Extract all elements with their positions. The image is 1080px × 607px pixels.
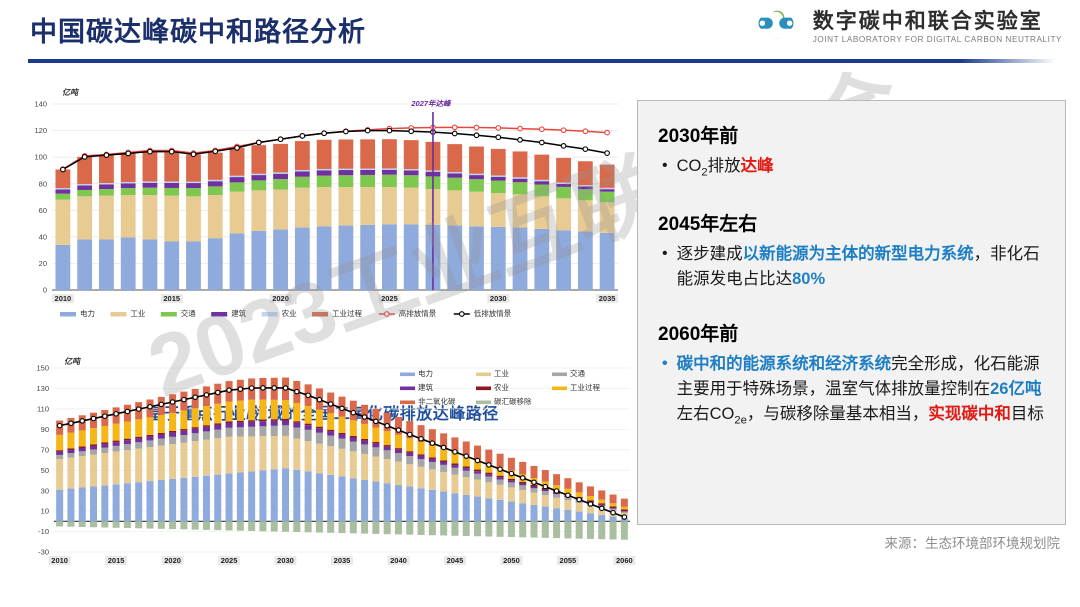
svg-text:2030: 2030 <box>277 556 294 565</box>
svg-text:0: 0 <box>43 286 47 295</box>
milestone-2030: 2030年前 • CO2排放达峰 <box>656 121 1051 181</box>
svg-text:2010: 2010 <box>51 556 68 565</box>
bullet-dot-icon: • <box>662 154 668 181</box>
svg-text:2020: 2020 <box>272 294 289 303</box>
svg-text:10: 10 <box>41 507 49 516</box>
svg-text:交通: 交通 <box>181 308 196 318</box>
svg-text:40: 40 <box>39 232 47 241</box>
slide-header: 中国碳达峰碳中和路径分析 数字碳中和联合实验室 JOINT LABORATORY… <box>0 0 1080 63</box>
milestone-text: CO2排放达峰 <box>677 154 1051 181</box>
svg-text:-30: -30 <box>38 548 49 557</box>
svg-text:120: 120 <box>34 126 47 135</box>
bullet-dot-icon: • <box>662 352 668 430</box>
svg-text:亿吨: 亿吨 <box>64 357 82 366</box>
svg-text:110: 110 <box>37 404 49 413</box>
source-note: 来源：生态环境部环境规划院 <box>637 532 1066 552</box>
slide: 中国碳达峰碳中和路径分析 数字碳中和联合实验室 JOINT LABORATORY… <box>0 0 1080 607</box>
svg-text:亿吨: 亿吨 <box>62 88 80 97</box>
chart-emission-peak-pathway: 亿吨0204060801001201402027年达峰2010201520202… <box>18 82 628 340</box>
bullet-dot-icon: • <box>662 242 668 292</box>
svg-text:碳汇碳移除: 碳汇碳移除 <box>494 396 532 406</box>
svg-text:2040: 2040 <box>390 556 407 565</box>
svg-text:130: 130 <box>36 384 49 393</box>
logo-text: 数字碳中和联合实验室 JOINT LABORATORY FOR DIGITAL … <box>813 11 1062 45</box>
svg-text:工业过程: 工业过程 <box>332 308 362 318</box>
milestone-heading: 2030年前 <box>658 121 1051 148</box>
svg-text:100: 100 <box>34 153 47 162</box>
svg-text:农业: 农业 <box>494 382 509 392</box>
milestone-text: 逐步建成以新能源为主体的新型电力系统，非化石能源发电占比达80% <box>677 242 1051 292</box>
svg-text:140: 140 <box>34 100 47 109</box>
milestone-heading: 2045年左右 <box>658 209 1051 236</box>
svg-text:2027年达峰: 2027年达峰 <box>410 99 452 108</box>
svg-text:150: 150 <box>36 364 49 373</box>
svg-text:50: 50 <box>41 466 49 475</box>
svg-text:2030: 2030 <box>490 294 507 303</box>
svg-text:交通: 交通 <box>570 368 585 378</box>
svg-text:建筑: 建筑 <box>231 308 246 318</box>
svg-text:2025: 2025 <box>221 556 238 565</box>
svg-text:70: 70 <box>41 445 49 454</box>
svg-text:-10: -10 <box>38 527 49 536</box>
page-title: 中国碳达峰碳中和路径分析 <box>30 10 366 49</box>
svg-text:80: 80 <box>39 179 47 188</box>
logo-mark-icon <box>748 8 804 48</box>
milestones-panel: 2030年前 • CO2排放达峰 2045年左右 • 逐步建成以新能源为主体的新… <box>637 100 1066 525</box>
svg-text:90: 90 <box>41 425 49 434</box>
milestone-heading: 2060年前 <box>658 319 1051 346</box>
lab-logo: 数字碳中和联合实验室 JOINT LABORATORY FOR DIGITAL … <box>748 8 1062 48</box>
svg-text:2035: 2035 <box>334 556 351 565</box>
svg-text:非二氧化碳: 非二氧化碳 <box>418 396 456 406</box>
svg-text:60: 60 <box>39 206 47 215</box>
title-divider-fade <box>960 59 1056 63</box>
svg-text:低排放情景: 低排放情景 <box>474 308 512 318</box>
svg-text:工业过程: 工业过程 <box>570 382 600 392</box>
logo-name-en: JOINT LABORATORY FOR DIGITAL CARBON NEUT… <box>813 35 1062 45</box>
svg-text:2060: 2060 <box>616 556 633 565</box>
milestone-bullet: • 逐步建成以新能源为主体的新型电力系统，非化石能源发电占比达80% <box>656 242 1051 292</box>
svg-text:高排放情景: 高排放情景 <box>399 308 437 318</box>
svg-text:2055: 2055 <box>560 556 577 565</box>
milestone-bullet: • 碳中和的能源系统和经济系统完全形成，化石能源主要用于特殊场景，温室气体排放量… <box>656 352 1051 430</box>
milestone-bullet: • CO2排放达峰 <box>656 154 1051 181</box>
svg-text:电力: 电力 <box>418 368 433 378</box>
svg-text:2015: 2015 <box>163 294 180 303</box>
svg-text:2015: 2015 <box>108 556 125 565</box>
svg-text:2035: 2035 <box>599 294 616 303</box>
svg-text:工业: 工业 <box>130 308 145 318</box>
milestone-2045: 2045年左右 • 逐步建成以新能源为主体的新型电力系统，非化石能源发电占比达8… <box>656 209 1051 292</box>
svg-text:建筑: 建筑 <box>418 382 433 392</box>
milestone-text: 碳中和的能源系统和经济系统完全形成，化石能源主要用于特殊场景，温室气体排放量控制… <box>677 352 1051 430</box>
svg-text:2020: 2020 <box>164 556 181 565</box>
svg-text:2010: 2010 <box>55 294 72 303</box>
logo-name-cn: 数字碳中和联合实验室 <box>813 11 1062 33</box>
chart-ghg-low-emission-scenario: -30-101030507090110130150亿吨2010201520202… <box>18 352 638 604</box>
svg-text:2025: 2025 <box>381 294 398 303</box>
svg-text:2045: 2045 <box>447 556 464 565</box>
title-divider <box>28 59 1054 63</box>
svg-text:30: 30 <box>41 486 49 495</box>
milestone-2060: 2060年前 • 碳中和的能源系统和经济系统完全形成，化石能源主要用于特殊场景，… <box>656 319 1051 430</box>
chart-top-svg: 亿吨0204060801001201402027年达峰2010201520202… <box>18 82 628 340</box>
svg-text:20: 20 <box>39 259 47 268</box>
svg-text:农业: 农业 <box>282 308 297 318</box>
svg-text:2050: 2050 <box>503 556 520 565</box>
svg-text:工业: 工业 <box>494 368 509 378</box>
svg-text:电力: 电力 <box>80 308 95 318</box>
chart-bottom-svg: -30-101030507090110130150亿吨2010201520202… <box>18 352 638 604</box>
